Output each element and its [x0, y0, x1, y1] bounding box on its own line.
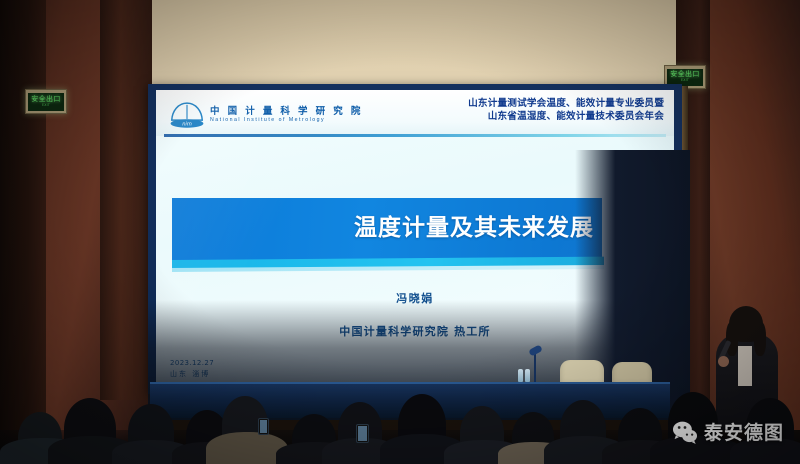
smartphone-screen [260, 420, 267, 433]
svg-text:nim: nim [182, 121, 192, 127]
water-bottle-2 [525, 369, 530, 382]
conference-photo: 安全出口 EXIT 安全出口 EXIT nim 中 国 计 量 科 学 研 究 … [0, 0, 800, 464]
exit-sign-left-label: 安全出口 [31, 96, 61, 103]
slide-title: 温度计量及其未来发展 [354, 208, 604, 242]
exit-sign-left-panel: 安全出口 EXIT [28, 93, 64, 111]
institute-name-cn: 中 国 计 量 科 学 研 究 院 [210, 107, 363, 117]
smartphone-screen [358, 426, 367, 441]
water-bottle-1 [518, 369, 523, 382]
speaker-shirt [738, 346, 752, 386]
conference-title-line-2: 山东省温湿度、能效计量技术委员会年会 [468, 111, 664, 124]
exit-sign-left-sublabel: EXIT [42, 104, 50, 107]
wechat-icon [672, 419, 698, 445]
institute-name-en: National Institute of Metrology [210, 118, 363, 123]
exit-sign-right-sublabel: EXIT [681, 79, 689, 82]
left-dark-panel [0, 0, 46, 464]
speaker-hair [729, 306, 763, 342]
table-microphone-stand [534, 352, 536, 382]
speaker-hand [718, 356, 729, 367]
left-pillar [100, 0, 152, 400]
exit-sign-right-panel: 安全出口 EXIT [667, 69, 703, 86]
smartphone-icon [356, 424, 369, 443]
exit-sign-right-label: 安全出口 [670, 71, 700, 78]
watermark-text: 泰安德图 [704, 418, 784, 445]
institute-logo-text: 中 国 计 量 科 学 研 究 院 National Institute of … [210, 107, 363, 124]
exit-sign-left: 安全出口 EXIT [25, 89, 67, 114]
smartphone-icon [258, 418, 269, 435]
institute-logo: nim 中 国 计 量 科 学 研 究 院 National Institute… [170, 102, 363, 128]
conference-title-line-1: 山东计量测试学会温度、能效计量专业委员暨 [468, 98, 664, 111]
nim-arch-logo-icon: nim [170, 102, 204, 128]
conference-title-block: 山东计量测试学会温度、能效计量专业委员暨 山东省温湿度、能效计量技术委员会年会 [468, 98, 664, 124]
watermark: 泰安德图 [672, 418, 784, 445]
slide-header-rule [164, 134, 666, 137]
